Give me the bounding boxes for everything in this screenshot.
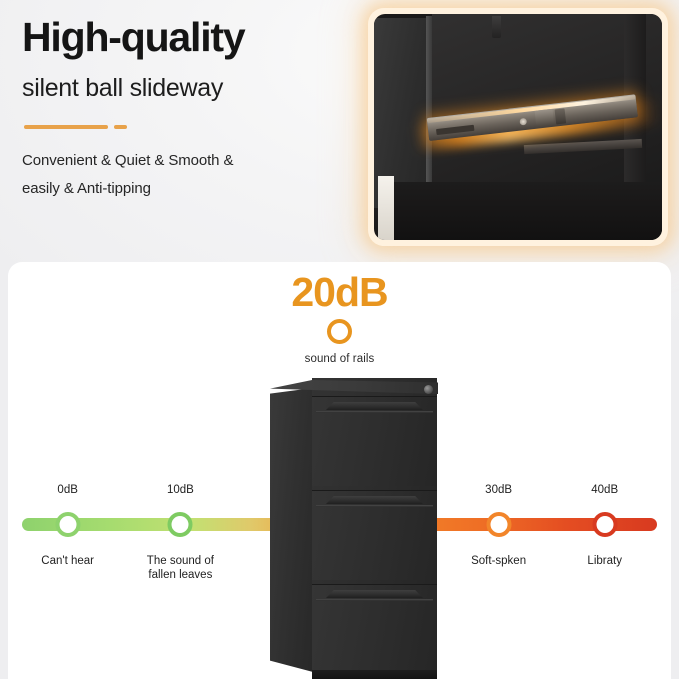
benefits-line-2: easily & Anti-tipping	[22, 175, 352, 203]
callout-label: sound of rails	[8, 353, 671, 365]
drawer-handle-icon	[326, 496, 423, 504]
scale-caption-0db: Can't hear	[41, 554, 94, 568]
photo-top-clip	[492, 16, 501, 38]
photo-rail-slot	[436, 125, 474, 135]
cabinet-drawer-middle	[312, 490, 437, 580]
filing-cabinet-image	[270, 378, 442, 679]
benefits-text: Convenient & Quiet & Smooth & easily & A…	[22, 147, 352, 203]
photo-rail-screw	[519, 118, 527, 126]
photo-rail-latch	[535, 109, 555, 127]
page-title: High-quality	[22, 14, 352, 61]
accent-divider	[24, 125, 352, 129]
cabinet-drawer-bottom	[312, 584, 437, 674]
divider-long-dash	[24, 125, 108, 129]
noise-scale-card: 20dB sound of rails 0dB 10dB 30dB 40dB C…	[8, 262, 671, 679]
photo-rail-latch-secondary	[555, 108, 567, 124]
scale-value-0db: 0dB	[57, 484, 77, 496]
scale-value-10db: 10dB	[167, 484, 194, 496]
scale-tick-40db	[592, 512, 617, 537]
photo-white-edge	[378, 176, 394, 240]
scale-caption-30db: Soft-spken	[471, 554, 526, 568]
noise-callout: 20dB sound of rails	[8, 272, 671, 365]
scale-tick-30db	[486, 512, 511, 537]
drawer-seam	[316, 505, 433, 507]
hero-text-block: High-quality silent ball slideway Conven…	[22, 14, 352, 203]
photo-cabinet-bottom	[394, 182, 662, 240]
scale-caption-40db: Libraty	[587, 554, 622, 568]
cabinet-side-panel	[270, 388, 313, 672]
slide-rail-photo	[374, 14, 662, 240]
scale-value-30db: 30dB	[485, 484, 512, 496]
callout-value: 20dB	[8, 272, 671, 313]
callout-ring-icon	[327, 319, 352, 344]
divider-short-dash	[114, 125, 127, 129]
drawer-seam	[316, 599, 433, 601]
scale-caption-10db: The sound of fallen leaves	[147, 554, 214, 583]
cabinet-lock-icon	[424, 385, 433, 394]
benefits-line-1: Convenient & Quiet & Smooth &	[22, 147, 352, 175]
page-subtitle: silent ball slideway	[22, 73, 352, 103]
drawer-handle-icon	[326, 590, 423, 598]
drawer-seam	[316, 411, 433, 413]
drawer-handle-icon	[326, 402, 423, 410]
infographic-page: High-quality silent ball slideway Conven…	[0, 0, 679, 679]
scale-tick-0db	[55, 512, 80, 537]
scale-tick-10db	[168, 512, 193, 537]
cabinet-base	[312, 670, 437, 679]
scale-value-40db: 40dB	[591, 484, 618, 496]
product-photo-frame	[368, 8, 668, 246]
cabinet-drawer-top	[312, 396, 437, 486]
